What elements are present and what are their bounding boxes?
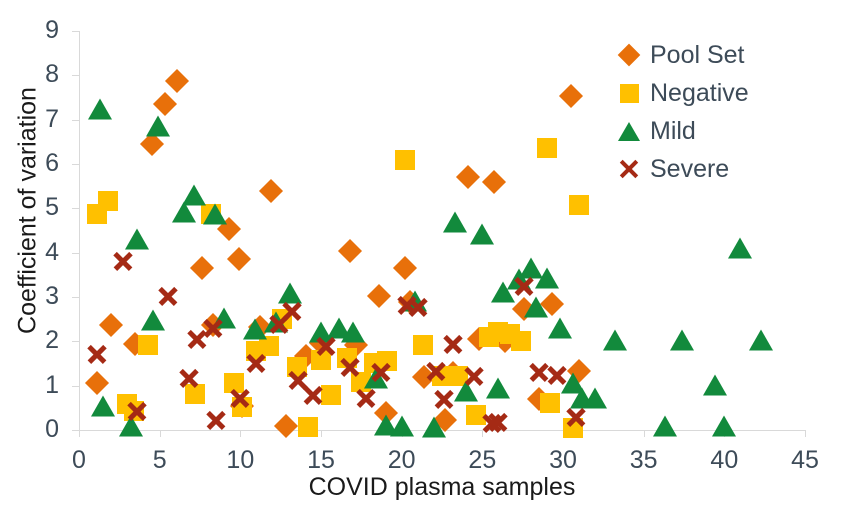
data-point-pool-set <box>456 165 480 189</box>
data-point-mild <box>728 238 752 259</box>
data-point-severe <box>245 352 267 374</box>
data-point-pool-set <box>152 92 176 116</box>
data-point-mild <box>422 416 446 437</box>
data-point-mild <box>91 395 115 416</box>
data-point-mild <box>524 296 548 317</box>
data-point-severe <box>513 275 535 297</box>
data-point-severe <box>202 317 224 339</box>
data-point-mild <box>535 268 559 289</box>
scatter-chart: 0123456789 051015202530354045 Coefficien… <box>0 0 841 507</box>
legend-label: Mild <box>650 119 696 144</box>
y-tick <box>72 386 79 387</box>
data-point-mild <box>390 416 414 437</box>
x-tick <box>644 430 645 437</box>
data-point-negative <box>569 195 589 215</box>
square-marker-icon-shape <box>620 84 639 103</box>
x-tick-label: 35 <box>614 448 674 473</box>
triangle-marker-icon <box>617 119 641 143</box>
x-tick <box>160 430 161 437</box>
data-point-pool-set <box>85 371 109 395</box>
legend-item-severe[interactable]: Severe <box>617 150 832 188</box>
data-point-mild <box>603 330 627 351</box>
x-tick <box>805 430 806 437</box>
data-point-severe <box>425 360 447 382</box>
data-point-severe <box>370 361 392 383</box>
data-point-pool-set <box>338 239 362 263</box>
cross-marker-icon-shape <box>618 158 640 180</box>
cross-marker-icon <box>617 157 641 181</box>
data-point-mild <box>712 415 736 436</box>
triangle-marker-icon-shape <box>618 122 640 141</box>
y-tick <box>72 75 79 76</box>
x-axis-title: COVID plasma samples <box>79 473 805 502</box>
data-point-pool-set <box>273 414 297 438</box>
data-point-negative <box>540 393 560 413</box>
x-tick <box>79 430 80 437</box>
x-tick-label: 5 <box>130 448 190 473</box>
data-point-severe <box>178 367 200 389</box>
data-point-mild <box>548 318 572 339</box>
data-point-mild <box>146 116 170 137</box>
square-marker-icon <box>617 81 641 105</box>
data-point-mild <box>203 203 227 224</box>
data-point-pool-set <box>367 284 391 308</box>
data-point-severe <box>86 343 108 365</box>
y-tick <box>72 253 79 254</box>
data-point-pool-set <box>559 84 583 108</box>
data-point-severe <box>126 400 148 422</box>
x-tick-label: 15 <box>291 448 351 473</box>
data-point-severe <box>463 365 485 387</box>
data-point-pool-set <box>190 256 214 280</box>
data-point-mild <box>749 330 773 351</box>
data-point-pool-set <box>227 247 251 271</box>
x-tick-label: 30 <box>533 448 593 473</box>
data-point-severe <box>281 300 303 322</box>
data-point-pool-set <box>259 179 283 203</box>
chart-legend: Pool SetNegativeMildSevere <box>617 36 832 188</box>
data-point-severe <box>546 364 568 386</box>
data-point-severe <box>157 285 179 307</box>
y-axis-title: Coefficient of variation <box>14 1 43 421</box>
data-point-mild <box>703 374 727 395</box>
data-point-severe <box>442 333 464 355</box>
data-point-pool-set <box>165 69 189 93</box>
y-tick <box>72 120 79 121</box>
data-point-mild <box>486 377 510 398</box>
x-tick-label: 20 <box>372 448 432 473</box>
data-point-negative <box>138 335 158 355</box>
x-tick <box>321 430 322 437</box>
data-point-mild <box>141 310 165 331</box>
legend-label: Severe <box>650 157 729 182</box>
data-point-mild <box>341 322 365 343</box>
legend-item-pool-set[interactable]: Pool Set <box>617 36 832 74</box>
data-point-negative <box>413 335 433 355</box>
data-point-mild <box>443 211 467 232</box>
legend-item-mild[interactable]: Mild <box>617 112 832 150</box>
y-tick <box>72 164 79 165</box>
data-point-severe <box>487 411 509 433</box>
data-point-pool-set <box>393 256 417 280</box>
legend-label: Negative <box>650 81 749 106</box>
y-tick <box>72 430 79 431</box>
data-point-negative <box>298 417 318 437</box>
x-tick-label: 45 <box>775 448 835 473</box>
data-point-pool-set <box>482 170 506 194</box>
data-point-mild <box>125 229 149 250</box>
data-point-severe <box>112 250 134 272</box>
data-point-mild <box>470 224 494 245</box>
data-point-severe <box>565 406 587 428</box>
data-point-pool-set <box>99 313 123 337</box>
data-point-severe <box>407 296 429 318</box>
y-tick <box>72 297 79 298</box>
data-point-negative <box>98 191 118 211</box>
x-tick-label: 10 <box>210 448 270 473</box>
y-tick <box>72 208 79 209</box>
data-point-severe <box>205 409 227 431</box>
data-point-negative <box>537 138 557 158</box>
data-point-negative <box>511 331 531 351</box>
data-point-severe <box>433 388 455 410</box>
data-point-negative <box>395 150 415 170</box>
y-tick-label: 0 <box>31 417 59 442</box>
y-tick <box>72 31 79 32</box>
x-tick-label: 0 <box>49 448 109 473</box>
x-tick-label: 25 <box>452 448 512 473</box>
data-point-severe <box>315 335 337 357</box>
legend-item-negative[interactable]: Negative <box>617 74 832 112</box>
x-tick <box>240 430 241 437</box>
x-tick-label: 40 <box>694 448 754 473</box>
data-point-mild <box>88 99 112 120</box>
y-tick <box>72 341 79 342</box>
data-point-severe <box>229 387 251 409</box>
diamond-marker-icon <box>617 43 641 67</box>
data-point-mild <box>653 415 677 436</box>
diamond-marker-icon-shape <box>618 44 641 67</box>
data-point-severe <box>302 384 324 406</box>
data-point-severe <box>339 356 361 378</box>
data-point-mild <box>670 330 694 351</box>
data-point-severe <box>355 387 377 409</box>
legend-label: Pool Set <box>650 43 745 68</box>
